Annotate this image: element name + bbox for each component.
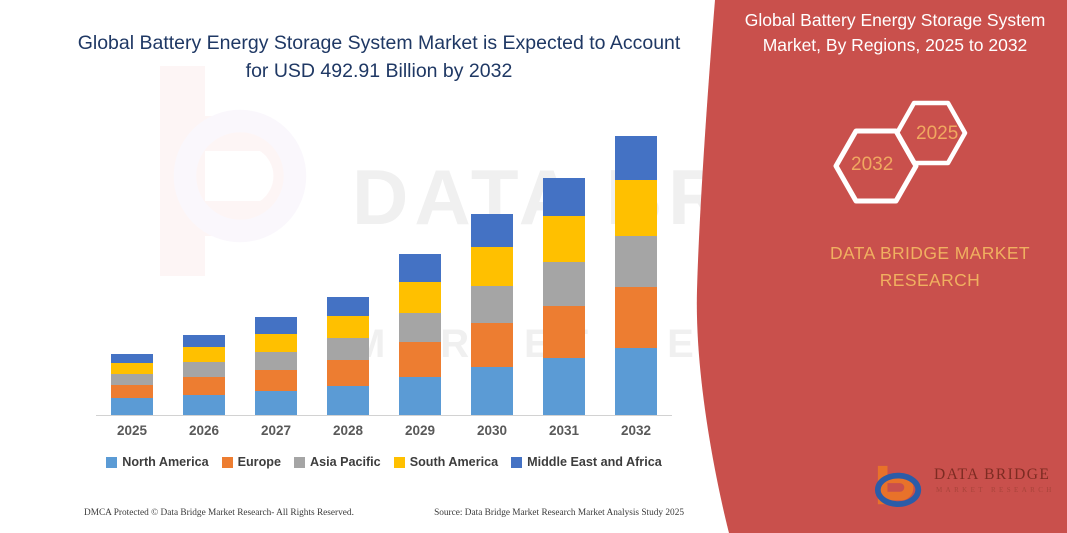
- bar-segment[interactable]: [183, 377, 225, 395]
- bar-segment[interactable]: [543, 178, 585, 216]
- legend-swatch-icon: [106, 457, 117, 468]
- logo-subtitle: MARKET RESEARCH: [936, 486, 1055, 494]
- legend-item[interactable]: Middle East and Africa: [511, 455, 662, 469]
- bar-segment[interactable]: [183, 395, 225, 415]
- bar-segment[interactable]: [111, 363, 153, 374]
- x-axis-label: 2027: [240, 423, 312, 438]
- bar-segment[interactable]: [399, 282, 441, 313]
- bar-segment[interactable]: [399, 377, 441, 415]
- bar-segment[interactable]: [255, 352, 297, 370]
- bar-stack[interactable]: [183, 335, 225, 415]
- bar-segment[interactable]: [471, 367, 513, 415]
- hexagon-outlines: [818, 95, 1018, 215]
- legend-label: South America: [410, 455, 498, 469]
- bar-segment[interactable]: [327, 360, 369, 386]
- bar-segment[interactable]: [111, 374, 153, 385]
- bar-stack[interactable]: [111, 354, 153, 415]
- bar-segment[interactable]: [255, 317, 297, 334]
- x-axis-label: 2030: [456, 423, 528, 438]
- x-axis-label: 2026: [168, 423, 240, 438]
- bar-segment[interactable]: [327, 316, 369, 338]
- chart-plot-area: [96, 110, 672, 416]
- x-axis-label: 2025: [96, 423, 168, 438]
- legend-item[interactable]: South America: [394, 455, 498, 469]
- legend-swatch-icon: [294, 457, 305, 468]
- bar-segment[interactable]: [399, 342, 441, 377]
- x-axis-label: 2028: [312, 423, 384, 438]
- bar-stack[interactable]: [399, 254, 441, 415]
- bar-segment[interactable]: [327, 297, 369, 316]
- bar-stack[interactable]: [255, 317, 297, 415]
- bar-stack[interactable]: [327, 297, 369, 415]
- bar-segment[interactable]: [327, 386, 369, 415]
- bar-segment[interactable]: [183, 362, 225, 377]
- x-axis-tick-labels: 20252026202720282029203020312032: [96, 423, 672, 438]
- bar-segment[interactable]: [255, 391, 297, 415]
- bar-segment[interactable]: [615, 236, 657, 287]
- bar-segment[interactable]: [111, 398, 153, 415]
- bar-stack[interactable]: [615, 136, 657, 415]
- chart-legend: North AmericaEuropeAsia PacificSouth Ame…: [96, 455, 672, 469]
- bar-group: [96, 110, 672, 415]
- legend-item[interactable]: Europe: [222, 455, 281, 469]
- hexagon-group: 2032 2025: [818, 95, 1018, 215]
- bar-segment[interactable]: [399, 254, 441, 282]
- bar-segment[interactable]: [111, 354, 153, 363]
- hexagon-label-2032: 2032: [851, 154, 893, 176]
- bar-segment[interactable]: [471, 214, 513, 247]
- panel-title: Global Battery Energy Storage System Mar…: [735, 8, 1055, 58]
- legend-label: Europe: [238, 455, 281, 469]
- legend-label: North America: [122, 455, 208, 469]
- bar-segment[interactable]: [543, 306, 585, 358]
- brand-name: DATA BRIDGE MARKET RESEARCH: [790, 240, 1067, 294]
- bar-column[interactable]: [384, 110, 456, 415]
- bar-segment[interactable]: [615, 348, 657, 415]
- bar-segment[interactable]: [327, 338, 369, 360]
- bar-segment[interactable]: [543, 262, 585, 306]
- bar-segment[interactable]: [471, 286, 513, 323]
- footer: DMCA Protected © Data Bridge Market Rese…: [84, 508, 684, 518]
- bar-column[interactable]: [168, 110, 240, 415]
- bar-segment[interactable]: [471, 323, 513, 367]
- legend-swatch-icon: [394, 457, 405, 468]
- bar-segment[interactable]: [615, 136, 657, 180]
- bar-segment[interactable]: [543, 216, 585, 262]
- legend-item[interactable]: Asia Pacific: [294, 455, 381, 469]
- logo-wordmark: DATA BRIDGE: [934, 466, 1050, 484]
- logo-mark-icon: [870, 462, 928, 510]
- bar-segment[interactable]: [471, 247, 513, 286]
- x-axis-label: 2029: [384, 423, 456, 438]
- footer-copyright: DMCA Protected © Data Bridge Market Rese…: [84, 508, 354, 518]
- x-axis-label: 2032: [600, 423, 672, 438]
- brand-logo: DATA BRIDGE MARKET RESEARCH: [870, 460, 1055, 512]
- bar-column[interactable]: [456, 110, 528, 415]
- bar-segment[interactable]: [543, 358, 585, 415]
- bar-column[interactable]: [600, 110, 672, 415]
- bar-segment[interactable]: [615, 287, 657, 348]
- chart-title: Global Battery Energy Storage System Mar…: [70, 30, 688, 85]
- bar-segment[interactable]: [111, 385, 153, 398]
- bar-segment[interactable]: [615, 180, 657, 236]
- bar-segment[interactable]: [399, 313, 441, 342]
- bar-column[interactable]: [96, 110, 168, 415]
- bar-column[interactable]: [240, 110, 312, 415]
- bar-segment[interactable]: [183, 347, 225, 362]
- infographic-root: DATA BRIDGE MARKET RESEARCH Global Batte…: [0, 0, 1067, 533]
- bar-column[interactable]: [312, 110, 384, 415]
- legend-item[interactable]: North America: [106, 455, 208, 469]
- bar-segment[interactable]: [255, 334, 297, 352]
- legend-label: Asia Pacific: [310, 455, 381, 469]
- legend-swatch-icon: [222, 457, 233, 468]
- bar-column[interactable]: [528, 110, 600, 415]
- bar-segment[interactable]: [255, 370, 297, 391]
- footer-source: Source: Data Bridge Market Research Mark…: [434, 508, 684, 518]
- legend-swatch-icon: [511, 457, 522, 468]
- x-axis-line: [96, 415, 672, 416]
- bar-segment[interactable]: [183, 335, 225, 347]
- legend-label: Middle East and Africa: [527, 455, 662, 469]
- bar-stack[interactable]: [543, 178, 585, 415]
- x-axis-label: 2031: [528, 423, 600, 438]
- bar-stack[interactable]: [471, 214, 513, 415]
- hexagon-label-2025: 2025: [916, 123, 958, 145]
